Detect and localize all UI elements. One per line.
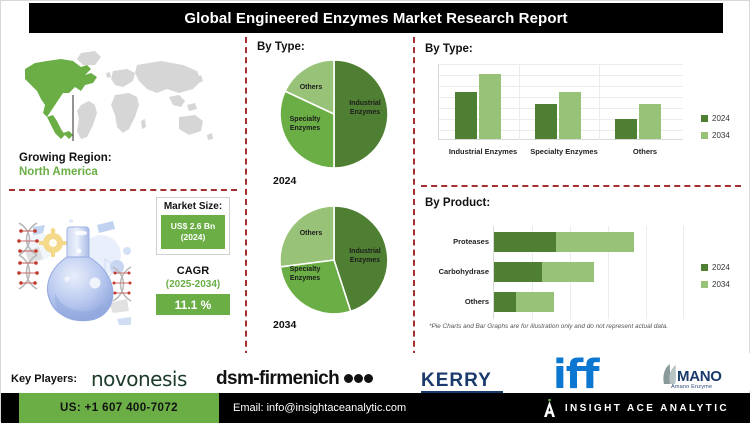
page-title: Global Engineered Enzymes Market Researc…	[184, 10, 567, 27]
pie-chart-2034: Industrial Enzymes Specialty Enzymes Oth…	[273, 204, 395, 316]
market-size-label: Market Size:	[164, 201, 222, 212]
segment-proteases-2034	[556, 232, 634, 252]
legend-label-2034: 2034	[712, 131, 730, 140]
logo-iff: iff	[553, 355, 599, 395]
logo-novonesis: novonesis	[91, 367, 187, 391]
gridline	[439, 64, 683, 65]
pie-2034-slice-label-industrial: Industrial Enzymes	[341, 248, 389, 265]
world-map-icon	[11, 43, 233, 153]
page-header: Global Engineered Enzymes Market Researc…	[29, 3, 723, 33]
pie-2034-year: 2034	[273, 319, 296, 331]
segment-carbohydrase-2034	[542, 262, 594, 282]
page-footer: US: +1 607 400-7072 Email: info@insighta…	[1, 393, 750, 423]
product-category-label-others: Others	[419, 297, 489, 306]
pie-2024-slice-label-industrial: Industrial Enzymes	[341, 100, 389, 117]
divider-horizontal-right	[421, 185, 741, 187]
legend-label-product-2024: 2024	[712, 263, 730, 272]
growing-region-block: Growing Region: North America	[19, 151, 219, 180]
stacked-bar-others	[494, 292, 554, 312]
insight-ace-a-logo-icon	[542, 399, 557, 418]
growing-region-value: North America	[19, 165, 219, 180]
cagr-label: CAGR	[153, 265, 233, 278]
legend-swatch-2024	[701, 115, 708, 122]
gridline	[683, 226, 684, 319]
market-size-value: US$ 2.6 Bn	[171, 221, 215, 232]
bar-others-2034	[639, 104, 661, 139]
pie-section-title: By Type:	[257, 41, 305, 53]
logo-dsm-firmenich-text: dsm-firmenich	[216, 368, 339, 389]
bar-chart-by-product	[493, 226, 683, 319]
footer-email[interactable]: Email: info@insightaceanalytic.com	[233, 393, 406, 423]
logo-amano-text: MANO	[677, 368, 722, 385]
footer-phone-box[interactable]: US: +1 607 400-7072	[19, 393, 219, 423]
laboratory-flask-dna-icon	[9, 207, 149, 337]
bar-chart-legend: 2024 2034	[701, 114, 730, 148]
bar-chart-by-type	[438, 64, 683, 140]
bar-category-label-specialty: Specialty Enzymes	[522, 147, 606, 156]
legend-label-product-2034: 2034	[712, 280, 730, 289]
stacked-bar-proteases	[494, 232, 634, 252]
footer-phone: US: +1 607 400-7072	[60, 402, 178, 414]
legend-item-product-2024: 2024	[701, 263, 730, 272]
bar-industrial-2024	[455, 92, 477, 139]
legend-item-2034: 2034	[701, 131, 730, 140]
dsm-dots-icon	[343, 368, 373, 390]
legend-swatch-product-2024	[701, 264, 708, 271]
gridline	[646, 226, 647, 319]
market-size-year: (2024)	[181, 232, 206, 243]
category-separator	[519, 64, 520, 140]
cagr-period: (2025-2034)	[153, 278, 233, 291]
chart-footnote: *Pie Charts and Bar Graphs are for illus…	[429, 323, 668, 330]
logo-amano: MANO Amano Enzyme	[661, 363, 722, 390]
bar-category-label-others: Others	[603, 147, 687, 156]
cagr-value-pill: 11.1 %	[156, 294, 230, 315]
logo-dsm-firmenich: dsm-firmenich	[216, 368, 373, 390]
legend-label-2024: 2024	[712, 114, 730, 123]
product-category-label-proteases: Proteases	[419, 237, 489, 246]
bar-group-industrial-enzymes	[455, 74, 501, 139]
pie-2024-year: 2024	[273, 175, 296, 187]
infographic-page: Global Engineered Enzymes Market Researc…	[0, 0, 750, 422]
legend-swatch-product-2034	[701, 281, 708, 288]
divider-vertical-left	[245, 37, 247, 367]
amano-leaf-icon	[661, 363, 677, 385]
market-size-card: Market Size: US$ 2.6 Bn (2024)	[156, 197, 230, 255]
bar-others-2024	[615, 119, 637, 139]
bar-industrial-2034	[479, 74, 501, 139]
divider-vertical-right	[413, 37, 415, 367]
divider-horizontal-left	[9, 189, 237, 191]
pie-2024-slice-label-specialty: Specialty Enzymes	[281, 116, 329, 133]
logo-kerry: KERRY	[421, 370, 492, 392]
bar-section-title: By Type:	[425, 43, 473, 55]
pie-2024-slice-label-others: Others	[291, 84, 331, 93]
bar-group-others	[615, 104, 661, 139]
market-size-value-pill: US$ 2.6 Bn (2024)	[161, 215, 225, 249]
legend-swatch-2034	[701, 132, 708, 139]
category-separator	[599, 64, 600, 140]
growing-region-label: Growing Region:	[19, 151, 219, 165]
bar-specialty-2024	[535, 104, 557, 139]
bar-specialty-2034	[559, 92, 581, 139]
pie-2034-slice-label-specialty: Specialty Enzymes	[281, 266, 329, 283]
cagr-card: CAGR (2025-2034) 11.1 %	[153, 265, 233, 315]
segment-carbohydrase-2024	[494, 262, 542, 282]
key-players-label: Key Players:	[11, 373, 77, 385]
product-category-label-carbohydrase: Carbohydrase	[419, 267, 489, 276]
stacked-bar-carbohydrase	[494, 262, 594, 282]
legend-item-2024: 2024	[701, 114, 730, 123]
pie-chart-2024: Industrial Enzymes Specialty Enzymes Oth…	[273, 58, 395, 170]
product-chart-legend: 2024 2034	[701, 263, 730, 297]
segment-others-2034	[516, 292, 554, 312]
footer-brand-text: INSIGHT ACE ANALYTIC	[565, 403, 729, 414]
segment-proteases-2024	[494, 232, 556, 252]
pie-2034-slice-label-others: Others	[291, 230, 331, 239]
footer-brand: INSIGHT ACE ANALYTIC	[542, 393, 729, 423]
product-section-title: By Product:	[425, 197, 490, 209]
segment-others-2024	[494, 292, 516, 312]
legend-item-product-2034: 2034	[701, 280, 730, 289]
bar-category-label-industrial: Industrial Enzymes	[441, 147, 525, 156]
bar-group-specialty-enzymes	[535, 92, 581, 139]
